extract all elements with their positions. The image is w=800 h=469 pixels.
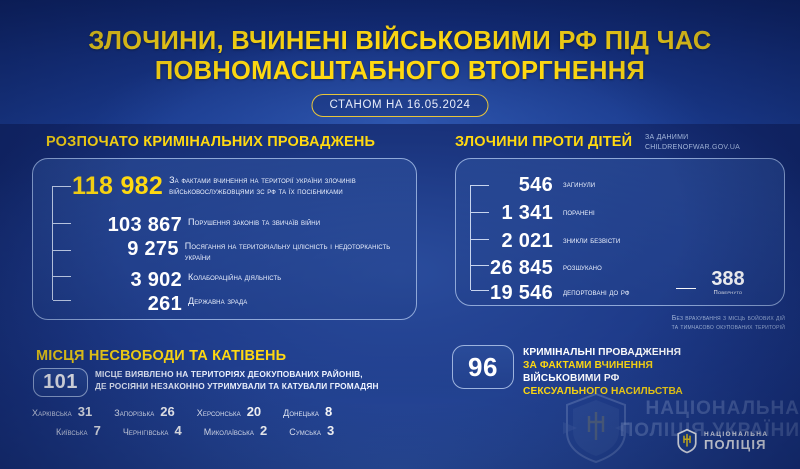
children-footnote-line1: Без врахування з місць бойових дій — [455, 314, 785, 323]
children-footnote-line2: та тимчасово окупованих територій — [455, 323, 785, 332]
criminal-row-value: 261 — [72, 294, 182, 314]
places-count-badge: 101 — [33, 368, 88, 397]
region-value: 26 — [160, 404, 174, 419]
criminal-row-value: 3 902 — [72, 270, 182, 290]
region-value: 31 — [78, 404, 92, 419]
region-item: Київська 7 — [56, 423, 101, 438]
regions-row: Київська 7 Чернігівська 4 Миколаївська 2… — [24, 423, 424, 442]
criminal-row-label: Колабораційна діяльність — [188, 270, 281, 283]
region-name: Запорізька — [114, 408, 154, 418]
criminal-row: 118 982 За фактами вчинення на території… — [72, 174, 412, 199]
police-logo-line2: ПОЛІЦІЯ — [704, 438, 769, 452]
sexual-violence-count-badge: 96 — [452, 345, 514, 389]
children-source-attribution: ЗА ДАНИМИ CHILDRENOFWAR.GOV.UA — [645, 133, 740, 152]
region-name: Сумська — [289, 427, 321, 437]
region-value: 2 — [260, 423, 267, 438]
children-row-label: Поранені — [563, 203, 595, 218]
region-value: 7 — [94, 423, 101, 438]
children-row-value: 2 021 — [480, 231, 553, 251]
criminal-row-value: 9 275 — [72, 239, 179, 259]
bracket-tick — [53, 223, 71, 224]
regions-list: Харківська 31 Запорізька 26 Херсонська 2… — [24, 404, 424, 442]
police-badge-icon — [676, 428, 698, 454]
criminal-row: 9 275 Посягання на територіальну цілісні… — [72, 239, 412, 264]
region-value: 8 — [325, 404, 332, 419]
region-item: Сумська 3 — [289, 423, 334, 438]
children-source-line1: ЗА ДАНИМИ — [645, 133, 740, 143]
children-row-label: Зникли безвісти — [563, 231, 620, 246]
bracket-tick — [53, 250, 71, 251]
region-name: Херсонська — [197, 408, 241, 418]
bracket-tick — [53, 276, 71, 277]
returned-connector — [676, 288, 696, 289]
region-item: Херсонська 20 — [197, 404, 261, 419]
sexual-violence-line2: ЗА ФАКТАМИ ВЧИНЕННЯ — [523, 359, 793, 372]
criminal-row-label: Посягання на територіальну цілісність і … — [185, 239, 412, 264]
children-row-value: 19 546 — [480, 283, 553, 303]
region-name: Чернігівська — [123, 427, 169, 437]
date-badge: СТАНОМ НА 16.05.2024 — [312, 94, 489, 117]
page-title: ЗЛОЧИНИ, ВЧИНЕНІ ВІЙСЬКОВИМИ РФ ПІД ЧАС … — [0, 0, 800, 86]
region-value: 20 — [247, 404, 261, 419]
returned-value: 388 — [700, 269, 756, 289]
page-title-line1: ЗЛОЧИНИ, ВЧИНЕНІ ВІЙСЬКОВИМИ РФ ПІД ЧАС — [88, 27, 711, 55]
region-item: Харківська 31 — [32, 404, 92, 419]
sexual-violence-line1: КРИМІНАЛЬНІ ПРОВАДЖЕННЯ — [523, 346, 793, 359]
bracket-tick — [53, 300, 71, 301]
criminal-row: 103 867 Порушення законів та звичаїв вій… — [72, 215, 412, 235]
places-description-line2: ДЕ РОСІЯНИ НЕЗАКОННО УТРИМУВАЛИ ТА КАТУВ… — [95, 381, 435, 393]
watermark-line1: НАЦІОНАЛЬНА — [470, 398, 800, 420]
section-heading-places: МІСЦЯ НЕСВОБОДИ ТА КАТІВЕНЬ — [36, 348, 286, 364]
returned-figure: 388 Повернуто — [700, 269, 756, 296]
region-value: 4 — [175, 423, 182, 438]
criminal-row-value: 103 867 — [72, 215, 182, 235]
region-name: Донецька — [283, 408, 319, 418]
infographic-root: ЗЛОЧИНИ, ВЧИНЕНІ ВІЙСЬКОВИМИ РФ ПІД ЧАС … — [0, 0, 800, 469]
children-bracket — [470, 185, 471, 290]
criminal-row: 3 902 Колабораційна діяльність — [72, 270, 412, 290]
sexual-violence-description: КРИМІНАЛЬНІ ПРОВАДЖЕННЯ ЗА ФАКТАМИ ВЧИНЕ… — [523, 346, 793, 398]
returned-label: Повернуто — [700, 290, 756, 296]
criminal-bracket — [52, 186, 53, 300]
region-item: Запорізька 26 — [114, 404, 175, 419]
section-heading-children: ЗЛОЧИНИ ПРОТИ ДІТЕЙ — [455, 134, 632, 150]
criminal-row-label: Державна зрада — [188, 294, 247, 307]
region-item: Донецька 8 — [283, 404, 332, 419]
criminal-row-label: За фактами вчинення на території України… — [169, 174, 412, 198]
criminal-row-label: Порушення законів та звичаїв війни — [188, 215, 320, 228]
sexual-violence-line3: ВІЙСЬКОВИМИ РФ — [523, 372, 793, 385]
region-value: 3 — [327, 423, 334, 438]
sexual-violence-line4: СЕКСУАЛЬНОГО НАСИЛЬСТВА — [523, 385, 793, 398]
children-row-label: Депортовані до РФ — [563, 283, 630, 298]
criminal-row: 261 Державна зрада — [72, 294, 412, 314]
children-row-label: Розшукано — [563, 258, 602, 273]
children-row: 1 341 Поранені — [480, 203, 780, 223]
region-name: Харківська — [32, 408, 72, 418]
children-source-line2: CHILDRENOFWAR.GOV.UA — [645, 143, 740, 153]
region-name: Київська — [56, 427, 88, 437]
region-item: Чернігівська 4 — [123, 423, 182, 438]
bracket-tick — [53, 186, 71, 187]
children-row-value: 26 845 — [480, 258, 553, 278]
criminal-row-value: 118 982 — [72, 174, 163, 199]
regions-row: Харківська 31 Запорізька 26 Херсонська 2… — [24, 404, 424, 423]
page-title-line2: ПОВНОМАСШТАБНОГО ВТОРГНЕННЯ — [0, 56, 800, 86]
region-name: Миколаївська — [204, 427, 254, 437]
children-footnote: Без врахування з місць бойових дій та ти… — [455, 314, 785, 333]
children-row-value: 1 341 — [480, 203, 553, 223]
police-logo: НАЦІОНАЛЬНА ПОЛІЦІЯ — [676, 428, 769, 454]
children-row: 546 Загинули — [480, 175, 780, 195]
children-row: 2 021 Зникли безвісти — [480, 231, 780, 251]
places-description: МІСЦЕ ВИЯВЛЕНО НА ТЕРИТОРІЯХ ДЕОКУПОВАНИ… — [95, 369, 435, 392]
children-row-label: Загинули — [563, 175, 595, 190]
section-heading-criminal: РОЗПОЧАТО КРИМІНАЛЬНИХ ПРОВАДЖЕНЬ — [46, 134, 375, 150]
places-description-line1: МІСЦЕ ВИЯВЛЕНО НА ТЕРИТОРІЯХ ДЕОКУПОВАНИ… — [95, 369, 435, 381]
watermark-shield-icon — [563, 392, 629, 464]
children-row-value: 546 — [480, 175, 553, 195]
region-item: Миколаївська 2 — [204, 423, 267, 438]
police-logo-text: НАЦІОНАЛЬНА ПОЛІЦІЯ — [704, 431, 769, 452]
